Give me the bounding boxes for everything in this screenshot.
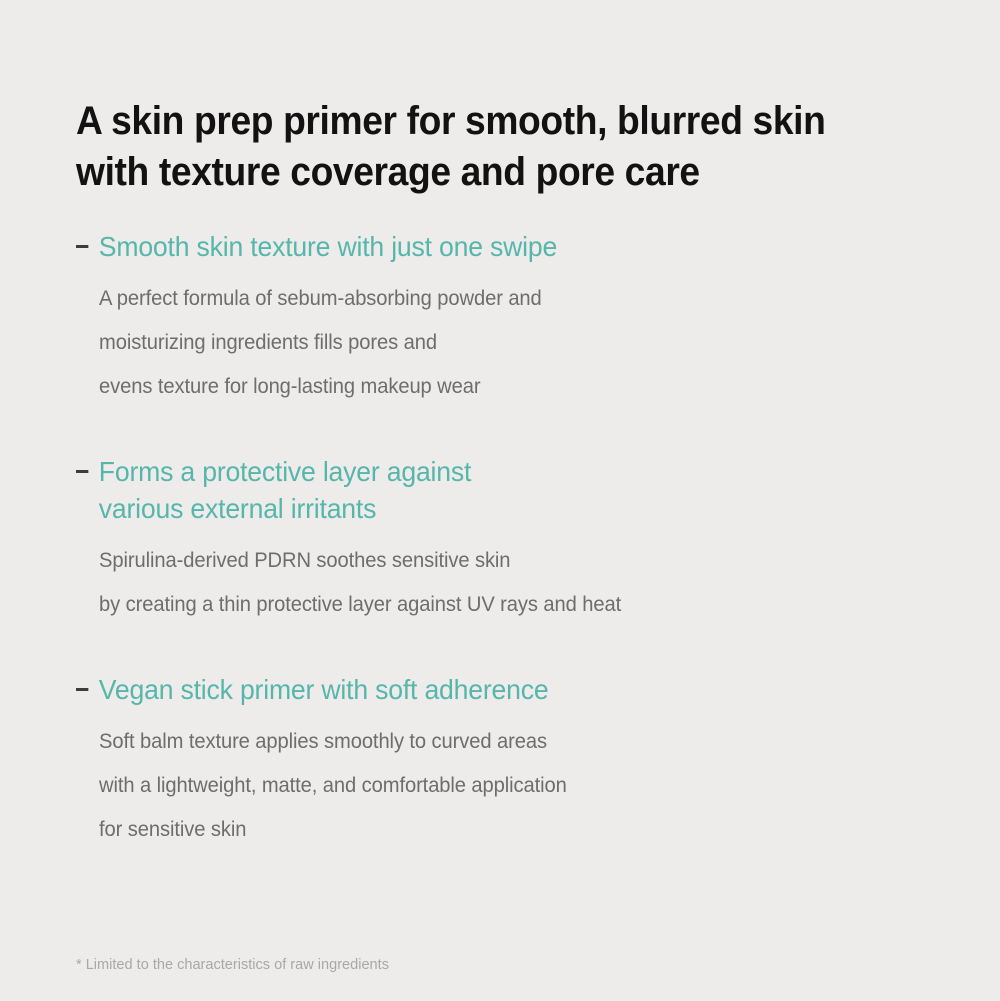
feature-item-3: Vegan stick primer with soft adherence S…	[76, 671, 956, 852]
feature-heading-2-line-2: various external irritants	[99, 490, 912, 527]
feature-body-2-line-1: Spirulina-derived PDRN soothes sensitive…	[99, 539, 921, 583]
feature-heading-2: Forms a protective layer against various…	[76, 453, 912, 527]
dash-marker-icon	[76, 470, 88, 473]
feature-body-3-line-1: Soft balm texture applies smoothly to cu…	[99, 720, 921, 764]
feature-heading-2-line-1: Forms a protective layer against	[99, 453, 912, 490]
feature-body-1-line-1: A perfect formula of sebum-absorbing pow…	[99, 277, 921, 321]
feature-heading-3: Vegan stick primer with soft adherence	[76, 671, 912, 708]
feature-body-1-line-2: moisturizing ingredients fills pores and	[99, 321, 921, 365]
feature-heading-3-line-1: Vegan stick primer with soft adherence	[99, 671, 912, 708]
feature-body-3-line-3: for sensitive skin	[99, 808, 921, 852]
feature-item-1: Smooth skin texture with just one swipe …	[76, 228, 956, 409]
feature-body-3-line-2: with a lightweight, matte, and comfortab…	[99, 764, 921, 808]
feature-body-1-line-3: evens texture for long-lasting makeup we…	[99, 365, 921, 409]
dash-marker-icon	[76, 688, 88, 691]
dash-marker-icon	[76, 245, 88, 248]
page-title: A skin prep primer for smooth, blurred s…	[76, 96, 867, 198]
feature-item-2: Forms a protective layer against various…	[76, 453, 956, 627]
feature-list: Smooth skin texture with just one swipe …	[76, 228, 956, 852]
feature-heading-1: Smooth skin texture with just one swipe	[76, 228, 912, 265]
footnote-disclaimer: * Limited to the characteristics of raw …	[76, 955, 389, 975]
feature-body-3: Soft balm texture applies smoothly to cu…	[76, 720, 921, 852]
feature-body-2-line-2: by creating a thin protective layer agai…	[99, 583, 921, 627]
page-title-line-1: A skin prep primer for smooth, blurred s…	[76, 96, 867, 147]
feature-heading-1-line-1: Smooth skin texture with just one swipe	[99, 228, 912, 265]
page-title-line-2: with texture coverage and pore care	[76, 147, 867, 198]
feature-body-1: A perfect formula of sebum-absorbing pow…	[76, 277, 921, 409]
feature-body-2: Spirulina-derived PDRN soothes sensitive…	[76, 539, 921, 627]
product-description-panel: A skin prep primer for smooth, blurred s…	[0, 0, 1000, 1001]
